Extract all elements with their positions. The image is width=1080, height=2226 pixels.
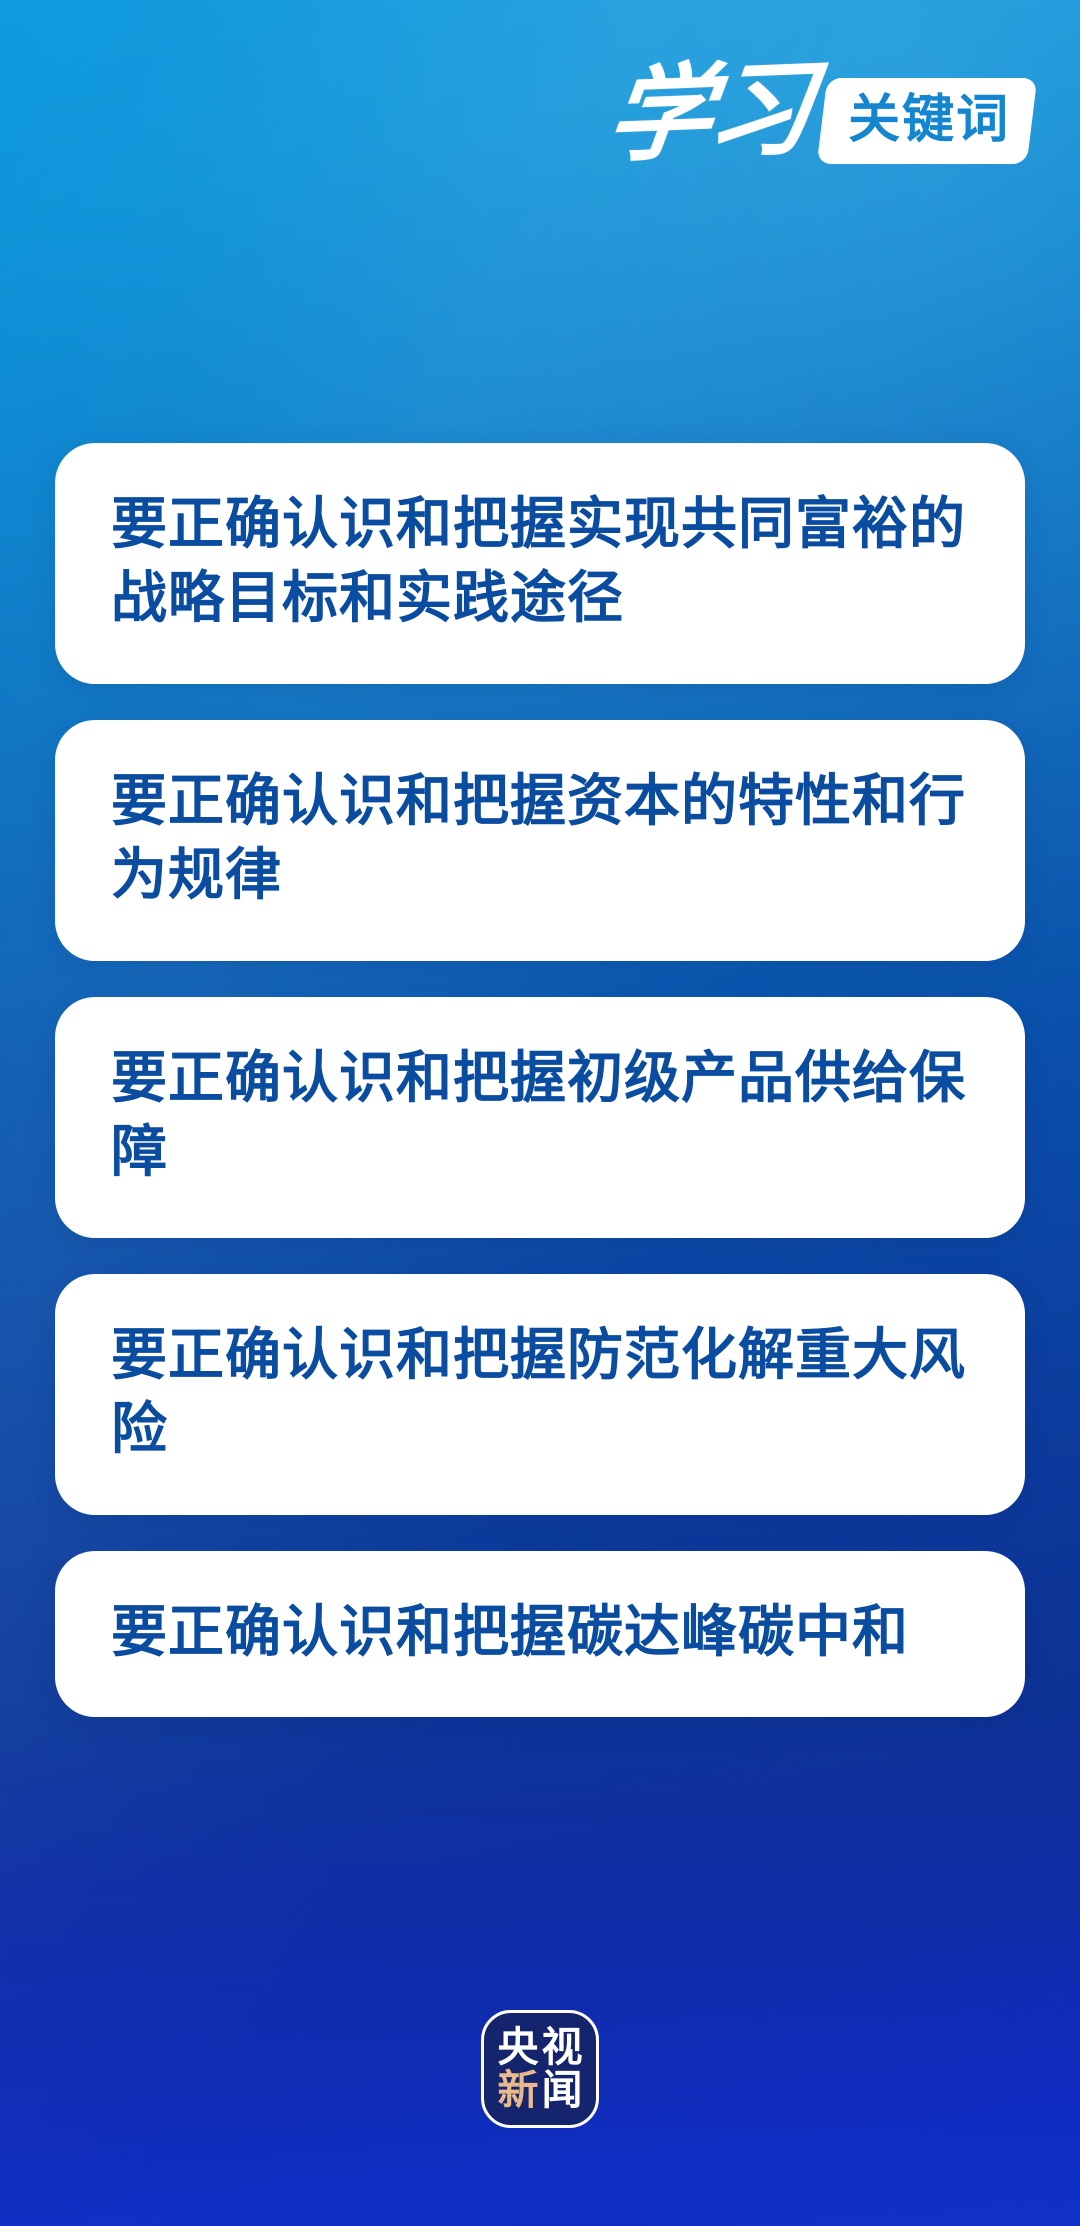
- cctv-logo-line-1: 央 视: [498, 2027, 583, 2068]
- keyword-card-list: 要正确认识和把握实现共同富裕的战略目标和实践途径 要正确认识和把握资本的特性和行…: [55, 443, 1025, 1717]
- brand-header: 学习 关键词: [608, 62, 1032, 170]
- cctv-logo-char-yang: 央: [498, 2027, 539, 2068]
- keyword-card[interactable]: 要正确认识和把握资本的特性和行为规律: [55, 720, 1025, 961]
- keyword-card[interactable]: 要正确认识和把握防范化解重大风险: [55, 1274, 1025, 1515]
- keyword-card[interactable]: 要正确认识和把握碳达峰碳中和: [55, 1551, 1025, 1717]
- poster-root: 学习 关键词 要正确认识和把握实现共同富裕的战略目标和实践途径 要正确认识和把握…: [0, 0, 1080, 2226]
- footer: 央 视 新 闻: [0, 2010, 1080, 2128]
- keyword-card-text: 要正确认识和把握防范化解重大风险: [111, 1318, 969, 1467]
- keyword-card-text: 要正确认识和把握资本的特性和行为规律: [111, 764, 969, 913]
- cctv-logo-char-xin: 新: [498, 2070, 539, 2111]
- cctv-logo-line-2: 新 闻: [498, 2070, 583, 2111]
- keyword-chip-label: 关键词: [848, 94, 1010, 146]
- keyword-card[interactable]: 要正确认识和把握实现共同富裕的战略目标和实践途径: [55, 443, 1025, 684]
- keyword-card[interactable]: 要正确认识和把握初级产品供给保障: [55, 997, 1025, 1238]
- cctv-logo-char-shi: 视: [542, 2027, 583, 2068]
- keyword-card-text: 要正确认识和把握初级产品供给保障: [111, 1041, 969, 1190]
- cctv-news-logo-icon: 央 视 新 闻: [481, 2010, 599, 2128]
- brand-script-title: 学习: [601, 58, 829, 174]
- keyword-card-text: 要正确认识和把握碳达峰碳中和: [111, 1595, 969, 1669]
- keyword-chip: 关键词: [817, 78, 1038, 164]
- keyword-card-text: 要正确认识和把握实现共同富裕的战略目标和实践途径: [111, 487, 969, 636]
- cctv-logo-char-wen: 闻: [542, 2070, 583, 2111]
